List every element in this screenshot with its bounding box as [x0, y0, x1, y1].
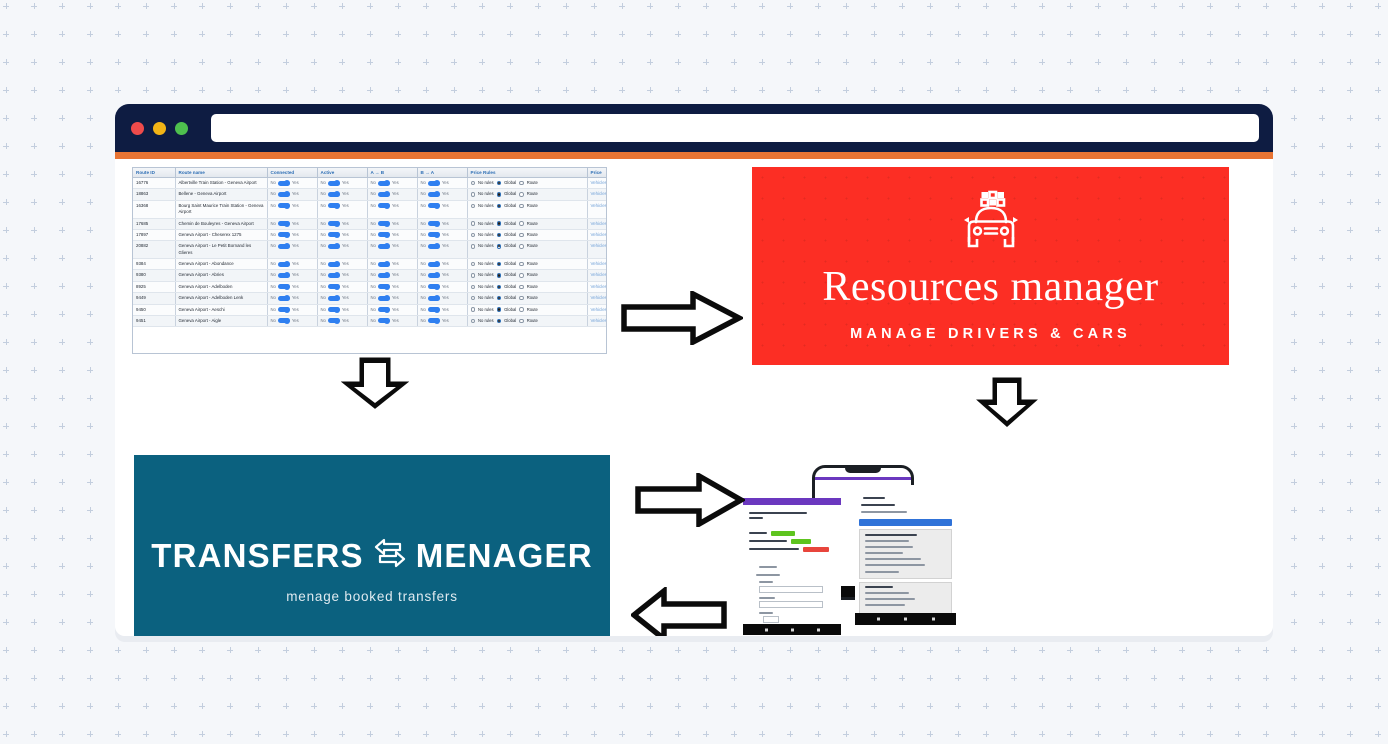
cell-price[interactable]: Vehicles	[587, 259, 607, 270]
toggle-switch[interactable]	[278, 296, 290, 301]
transfers-menager-banner: TRANSFERS MENAGER menage booked transfer…	[134, 455, 610, 636]
radio-label: Global	[504, 191, 516, 197]
cell-b-to-a[interactable]: NoYes	[417, 281, 467, 292]
cell-b-to-a[interactable]: NoYes	[417, 229, 467, 240]
radio-global[interactable]	[497, 285, 502, 290]
cell-route-name: Geneva Airport - Abondance	[175, 259, 267, 270]
browser-titlebar	[115, 104, 1273, 152]
toggle-switch[interactable]	[328, 232, 340, 237]
phone-mockups-group	[743, 465, 943, 635]
toggle-off-label: No	[371, 203, 376, 209]
toggle-switch[interactable]	[328, 307, 340, 312]
cell-price-rules[interactable]: No rulesGlobalRoute	[467, 189, 587, 200]
toggle-switch[interactable]	[378, 221, 390, 226]
cell-b-to-a[interactable]: NoYes	[417, 200, 467, 218]
toggle-off-label: No	[421, 203, 426, 209]
table-row[interactable]: 9380Geneva Airport - AbriesNoYesNoYesNoY…	[133, 270, 607, 281]
cell-route-name: Geneva Airport - Aigle	[175, 315, 267, 326]
table-row[interactable]: 9449Geneva Airport - Adelboden LenkNoYes…	[133, 293, 607, 304]
toggle-on-label: Yes	[292, 295, 299, 301]
toggle-switch[interactable]	[278, 307, 290, 312]
vehicles-link[interactable]: Vehicles	[591, 232, 607, 237]
routes-table: Route ID Route name Connected Active A →…	[133, 168, 607, 327]
cell-price-rules[interactable]: No rulesGlobalRoute	[467, 218, 587, 229]
cell-price-rules[interactable]: No rulesGlobalRoute	[467, 304, 587, 315]
toggle-switch[interactable]	[328, 318, 340, 323]
maximize-window-button[interactable]	[175, 122, 188, 135]
toggle-off-label: No	[271, 295, 276, 301]
toggle-switch[interactable]	[328, 284, 340, 289]
toggle-off-label: No	[371, 191, 376, 197]
cell-a-to-b[interactable]: NoYes	[367, 304, 417, 315]
cell-route-id: 9380	[133, 270, 175, 281]
cell-b-to-a[interactable]: NoYes	[417, 178, 467, 189]
toggle-switch[interactable]	[428, 181, 440, 186]
radio-global[interactable]	[497, 192, 502, 197]
cell-price-rules[interactable]: No rulesGlobalRoute	[467, 241, 587, 259]
table-row[interactable]: 16368Bourg Saint Maurice Train Station -…	[133, 200, 607, 218]
toggle-on-label: Yes	[342, 284, 349, 290]
cell-route-name: Geneva Airport - Abries	[175, 270, 267, 281]
toggle-switch[interactable]	[428, 262, 440, 267]
toggle-switch[interactable]	[428, 244, 440, 249]
toggle-on-label: Yes	[342, 243, 349, 249]
cell-price-rules[interactable]: No rulesGlobalRoute	[467, 293, 587, 304]
radio-label: No rules	[478, 180, 494, 186]
toggle-switch[interactable]	[278, 232, 290, 237]
radio-global[interactable]	[497, 204, 502, 209]
radio-label: Route	[527, 307, 538, 313]
toggle-off-label: No	[421, 191, 426, 197]
radio-label: Route	[527, 191, 538, 197]
cell-a-to-b[interactable]: NoYes	[367, 241, 417, 259]
toggle-on-label: Yes	[442, 272, 449, 278]
vehicles-link[interactable]: Vehicles	[591, 284, 607, 289]
cell-a-to-b[interactable]: NoYes	[367, 178, 417, 189]
radio-label: Route	[527, 272, 538, 278]
toggle-on-label: Yes	[342, 203, 349, 209]
cell-connected[interactable]: NoYes	[267, 218, 317, 229]
toggle-switch[interactable]	[378, 192, 390, 197]
cell-a-to-b[interactable]: NoYes	[367, 229, 417, 240]
radio-label: No rules	[478, 307, 494, 313]
vehicles-link[interactable]: Vehicles	[591, 180, 607, 185]
toggle-switch[interactable]	[378, 181, 390, 186]
toggle-off-label: No	[271, 221, 276, 227]
accent-strip	[115, 152, 1273, 159]
radio-global[interactable]	[497, 221, 502, 226]
toggle-on-label: Yes	[292, 318, 299, 324]
cell-price[interactable]: Vehicles	[587, 241, 607, 259]
vehicles-link[interactable]: Vehicles	[591, 318, 607, 323]
cell-price-rules[interactable]: No rulesGlobalRoute	[467, 259, 587, 270]
radio-route[interactable]	[519, 273, 524, 278]
toggle-off-label: No	[271, 191, 276, 197]
toggle-on-label: Yes	[392, 221, 399, 227]
cell-connected[interactable]: NoYes	[267, 315, 317, 326]
toggle-switch[interactable]	[378, 203, 390, 208]
phone-screen-front	[855, 485, 956, 625]
toggle-on-label: Yes	[342, 261, 349, 267]
vehicles-link[interactable]: Vehicles	[591, 307, 607, 312]
cell-price[interactable]: Vehicles	[587, 218, 607, 229]
cell-active[interactable]: NoYes	[317, 293, 367, 304]
radio-no-rules[interactable]	[471, 307, 476, 312]
toggle-on-label: Yes	[292, 191, 299, 197]
vehicles-link[interactable]: Vehicles	[591, 272, 607, 277]
cell-a-to-b[interactable]: NoYes	[367, 189, 417, 200]
toggle-on-label: Yes	[442, 261, 449, 267]
toggle-on-label: Yes	[392, 180, 399, 186]
radio-route[interactable]	[519, 233, 524, 238]
toggle-switch[interactable]	[278, 192, 290, 197]
radio-global[interactable]	[497, 296, 502, 301]
toggle-off-label: No	[271, 272, 276, 278]
cell-route-id: 9450	[133, 304, 175, 315]
col-header-route-name[interactable]: Route name	[175, 168, 267, 178]
cell-price[interactable]: Vehicles	[587, 315, 607, 326]
cell-route-name: Geneva Airport - Cheserex 1275	[175, 229, 267, 240]
radio-route[interactable]	[519, 262, 524, 267]
cell-b-to-a[interactable]: NoYes	[417, 315, 467, 326]
cell-b-to-a[interactable]: NoYes	[417, 270, 467, 281]
radio-route[interactable]	[519, 307, 524, 312]
toggle-off-label: No	[321, 272, 326, 278]
arrow-table-to-resources	[621, 291, 743, 345]
cell-active[interactable]: NoYes	[317, 229, 367, 240]
cell-b-to-a[interactable]: NoYes	[417, 218, 467, 229]
cell-price-rules[interactable]: No rulesGlobalRoute	[467, 281, 587, 292]
phone-notch	[845, 468, 881, 473]
routes-table-body: 16776Albertville Train Station - Geneva …	[133, 178, 607, 327]
cell-active[interactable]: NoYes	[317, 200, 367, 218]
cell-price-rules[interactable]: No rulesGlobalRoute	[467, 270, 587, 281]
radio-label: Global	[504, 243, 516, 249]
cell-route-id: 16368	[133, 200, 175, 218]
cell-a-to-b[interactable]: NoYes	[367, 218, 417, 229]
cell-b-to-a[interactable]: NoYes	[417, 304, 467, 315]
toggle-switch[interactable]	[428, 307, 440, 312]
radio-global[interactable]	[497, 233, 502, 238]
radio-label: Route	[527, 180, 538, 186]
radio-no-rules[interactable]	[471, 285, 476, 290]
toggle-off-label: No	[321, 243, 326, 249]
radio-route[interactable]	[519, 192, 524, 197]
cell-route-id: 8925	[133, 281, 175, 292]
toggle-switch[interactable]	[328, 221, 340, 226]
radio-global[interactable]	[497, 181, 502, 186]
toggle-switch[interactable]	[328, 244, 340, 249]
radio-label: Route	[527, 221, 538, 227]
toggle-off-label: No	[371, 243, 376, 249]
radio-no-rules[interactable]	[471, 221, 476, 226]
toggle-off-label: No	[421, 180, 426, 186]
radio-global[interactable]	[497, 319, 502, 324]
toggle-switch[interactable]	[428, 296, 440, 301]
phone-status-bar	[815, 477, 911, 480]
toggle-switch[interactable]	[278, 203, 290, 208]
cell-price[interactable]: Vehicles	[587, 304, 607, 315]
vehicles-link[interactable]: Vehicles	[591, 191, 607, 196]
toggle-switch[interactable]	[378, 296, 390, 301]
cell-connected[interactable]: NoYes	[267, 189, 317, 200]
cell-price[interactable]: Vehicles	[587, 281, 607, 292]
radio-label: Route	[527, 232, 538, 238]
toggle-off-label: No	[421, 232, 426, 238]
toggle-switch[interactable]	[328, 273, 340, 278]
cell-route-id: 17897	[133, 229, 175, 240]
toggle-switch[interactable]	[428, 203, 440, 208]
radio-label: No rules	[478, 232, 494, 238]
toggle-switch[interactable]	[428, 221, 440, 226]
radio-route[interactable]	[519, 244, 524, 249]
toggle-switch[interactable]	[428, 273, 440, 278]
cell-price-rules[interactable]: No rulesGlobalRoute	[467, 200, 587, 218]
cell-price[interactable]: Vehicles	[587, 178, 607, 189]
col-header-active[interactable]: Active	[317, 168, 367, 178]
vehicles-link[interactable]: Vehicles	[591, 261, 607, 266]
cell-connected[interactable]: NoYes	[267, 281, 317, 292]
table-row[interactable]: 17897Geneva Airport - Cheserex 1275NoYes…	[133, 229, 607, 240]
toggle-switch[interactable]	[278, 273, 290, 278]
cell-a-to-b[interactable]: NoYes	[367, 270, 417, 281]
toggle-switch[interactable]	[428, 232, 440, 237]
vehicles-link[interactable]: Vehicles	[591, 203, 607, 208]
toggle-switch[interactable]	[278, 244, 290, 249]
toggle-on-label: Yes	[292, 232, 299, 238]
phone-status-bar	[743, 498, 841, 505]
radio-no-rules[interactable]	[471, 262, 476, 267]
toggle-on-label: Yes	[392, 318, 399, 324]
radio-route[interactable]	[519, 296, 524, 301]
radio-route[interactable]	[519, 285, 524, 290]
radio-no-rules[interactable]	[471, 244, 476, 249]
table-row[interactable]: 8925Geneva Airport - AdelbodenNoYesNoYes…	[133, 281, 607, 292]
cell-price[interactable]: Vehicles	[587, 293, 607, 304]
cell-connected[interactable]: NoYes	[267, 259, 317, 270]
cell-connected[interactable]: NoYes	[267, 241, 317, 259]
cell-a-to-b[interactable]: NoYes	[367, 293, 417, 304]
cell-connected[interactable]: NoYes	[267, 293, 317, 304]
cell-a-to-b[interactable]: NoYes	[367, 259, 417, 270]
table-row[interactable]: 20882Geneva Airport - Le Petit Bornand l…	[133, 241, 607, 259]
toggle-off-label: No	[371, 295, 376, 301]
phone-screen-left	[743, 498, 841, 635]
cell-b-to-a[interactable]: NoYes	[417, 259, 467, 270]
toggle-off-label: No	[321, 318, 326, 324]
cell-route-name: Geneva Airport - Aeschi	[175, 304, 267, 315]
toggle-off-label: No	[421, 272, 426, 278]
radio-no-rules[interactable]	[471, 181, 476, 186]
cell-price[interactable]: Vehicles	[587, 229, 607, 240]
address-bar-input[interactable]	[211, 114, 1259, 142]
toggle-on-label: Yes	[292, 243, 299, 249]
col-header-price[interactable]: Price	[587, 168, 607, 178]
toggle-switch[interactable]	[378, 262, 390, 267]
radio-global[interactable]	[497, 244, 502, 249]
toggle-on-label: Yes	[442, 243, 449, 249]
toggle-switch[interactable]	[278, 181, 290, 186]
radio-label: Global	[504, 261, 516, 267]
cell-connected[interactable]: NoYes	[267, 270, 317, 281]
vehicles-link[interactable]: Vehicles	[591, 295, 607, 300]
col-header-price-rules[interactable]: Price Rules	[467, 168, 587, 178]
radio-no-rules[interactable]	[471, 192, 476, 197]
cell-route-id: 16776	[133, 178, 175, 189]
radio-no-rules[interactable]	[471, 273, 476, 278]
radio-no-rules[interactable]	[471, 233, 476, 238]
toggle-on-label: Yes	[442, 307, 449, 313]
table-row[interactable]: 9451Geneva Airport - AigleNoYesNoYesNoYe…	[133, 315, 607, 326]
toggle-switch[interactable]	[278, 318, 290, 323]
radio-label: No rules	[478, 243, 494, 249]
cell-active[interactable]: NoYes	[317, 218, 367, 229]
table-row[interactable]: 9450Geneva Airport - AeschiNoYesNoYesNoY…	[133, 304, 607, 315]
cell-price-rules[interactable]: No rulesGlobalRoute	[467, 315, 587, 326]
toggle-switch[interactable]	[328, 262, 340, 267]
toggle-switch[interactable]	[428, 192, 440, 197]
radio-route[interactable]	[519, 181, 524, 186]
phone-primary-button	[859, 519, 952, 526]
toggle-switch[interactable]	[328, 296, 340, 301]
table-row[interactable]: 17685Chemin de Bouleyres - Geneva Airpor…	[133, 218, 607, 229]
cell-b-to-a[interactable]: NoYes	[417, 293, 467, 304]
toggle-switch[interactable]	[428, 318, 440, 323]
toggle-switch[interactable]	[428, 284, 440, 289]
toggle-on-label: Yes	[342, 180, 349, 186]
toggle-switch[interactable]	[278, 221, 290, 226]
cell-b-to-a[interactable]: NoYes	[417, 189, 467, 200]
toggle-switch[interactable]	[378, 284, 390, 289]
swap-arrows-icon	[370, 534, 410, 578]
cell-active[interactable]: NoYes	[317, 178, 367, 189]
col-header-b-to-a[interactable]: B → A	[417, 168, 467, 178]
radio-label: No rules	[478, 261, 494, 267]
toggle-on-label: Yes	[392, 191, 399, 197]
radio-no-rules[interactable]	[471, 204, 476, 209]
routes-table-container[interactable]: Route ID Route name Connected Active A →…	[132, 167, 607, 354]
toggle-off-label: No	[371, 180, 376, 186]
radio-global[interactable]	[497, 307, 502, 312]
cell-price-rules[interactable]: No rulesGlobalRoute	[467, 178, 587, 189]
toggle-on-label: Yes	[292, 221, 299, 227]
toggle-off-label: No	[421, 221, 426, 227]
toggle-off-label: No	[271, 180, 276, 186]
radio-route[interactable]	[519, 319, 524, 324]
cell-connected[interactable]: NoYes	[267, 200, 317, 218]
toggle-switch[interactable]	[328, 181, 340, 186]
browser-window: Route ID Route name Connected Active A →…	[115, 104, 1273, 636]
toggle-on-label: Yes	[442, 232, 449, 238]
toggle-off-label: No	[321, 295, 326, 301]
toggle-on-label: Yes	[342, 232, 349, 238]
cell-active[interactable]: NoYes	[317, 189, 367, 200]
cell-connected[interactable]: NoYes	[267, 304, 317, 315]
table-row[interactable]: 16776Albertville Train Station - Geneva …	[133, 178, 607, 189]
vehicles-link[interactable]: Vehicles	[591, 221, 607, 226]
col-header-a-to-b[interactable]: A → B	[367, 168, 417, 178]
toggle-switch[interactable]	[378, 232, 390, 237]
close-window-button[interactable]	[131, 122, 144, 135]
cell-price[interactable]: Vehicles	[587, 270, 607, 281]
col-header-connected[interactable]: Connected	[267, 168, 317, 178]
toggle-switch[interactable]	[378, 318, 390, 323]
cell-route-name: Chemin de Bouleyres - Geneva Airport	[175, 218, 267, 229]
arrow-phones-to-transfers	[631, 587, 727, 636]
radio-label: Route	[527, 318, 538, 324]
toggle-on-label: Yes	[392, 243, 399, 249]
radio-route[interactable]	[519, 204, 524, 209]
vehicles-link[interactable]: Vehicles	[591, 243, 607, 248]
cell-price-rules[interactable]: No rulesGlobalRoute	[467, 229, 587, 240]
arrow-transfers-to-phones	[635, 473, 745, 527]
cell-a-to-b[interactable]: NoYes	[367, 281, 417, 292]
cell-active[interactable]: NoYes	[317, 241, 367, 259]
cell-active[interactable]: NoYes	[317, 304, 367, 315]
table-row[interactable]: 18863Bellene - Geneva AirportNoYesNoYesN…	[133, 189, 607, 200]
toggle-switch[interactable]	[278, 262, 290, 267]
toggle-on-label: Yes	[292, 261, 299, 267]
transfers-menager-subtitle: menage booked transfers	[286, 589, 458, 604]
cell-price[interactable]: Vehicles	[587, 189, 607, 200]
cell-a-to-b[interactable]: NoYes	[367, 200, 417, 218]
toggle-switch[interactable]	[378, 307, 390, 312]
cell-route-name: Geneva Airport - Adelboden	[175, 281, 267, 292]
cell-connected[interactable]: NoYes	[267, 178, 317, 189]
toggle-off-label: No	[421, 243, 426, 249]
toggle-switch[interactable]	[378, 273, 390, 278]
radio-label: No rules	[478, 318, 494, 324]
browser-viewport: Route ID Route name Connected Active A →…	[115, 159, 1273, 636]
toggle-switch[interactable]	[328, 192, 340, 197]
toggle-off-label: No	[371, 272, 376, 278]
toggle-switch[interactable]	[328, 203, 340, 208]
radio-global[interactable]	[497, 262, 502, 267]
radio-route[interactable]	[519, 221, 524, 226]
toggle-off-label: No	[321, 191, 326, 197]
toggle-off-label: No	[321, 180, 326, 186]
cell-route-name: Geneva Airport - Le Petit Bornand les Gl…	[175, 241, 267, 259]
cell-active[interactable]: NoYes	[317, 259, 367, 270]
cell-active[interactable]: NoYes	[317, 315, 367, 326]
radio-label: Route	[527, 261, 538, 267]
toggle-on-label: Yes	[342, 272, 349, 278]
toggle-off-label: No	[321, 203, 326, 209]
radio-global[interactable]	[497, 273, 502, 278]
cell-active[interactable]: NoYes	[317, 270, 367, 281]
radio-no-rules[interactable]	[471, 296, 476, 301]
toggle-off-label: No	[371, 232, 376, 238]
cell-b-to-a[interactable]: NoYes	[417, 241, 467, 259]
col-header-route-id[interactable]: Route ID	[133, 168, 175, 178]
toggle-on-label: Yes	[442, 318, 449, 324]
routes-table-header-row: Route ID Route name Connected Active A →…	[133, 168, 607, 178]
radio-label: No rules	[478, 295, 494, 301]
minimize-window-button[interactable]	[153, 122, 166, 135]
radio-label: Route	[527, 203, 538, 209]
radio-label: Global	[504, 203, 516, 209]
cell-active[interactable]: NoYes	[317, 281, 367, 292]
cell-a-to-b[interactable]: NoYes	[367, 315, 417, 326]
radio-no-rules[interactable]	[471, 319, 476, 324]
toggle-switch[interactable]	[378, 244, 390, 249]
toggle-switch[interactable]	[278, 284, 290, 289]
table-row[interactable]: 9384Geneva Airport - AbondanceNoYesNoYes…	[133, 259, 607, 270]
toggle-on-label: Yes	[392, 203, 399, 209]
cell-price[interactable]: Vehicles	[587, 200, 607, 218]
phone-nav-bar	[743, 624, 841, 635]
cell-connected[interactable]: NoYes	[267, 229, 317, 240]
